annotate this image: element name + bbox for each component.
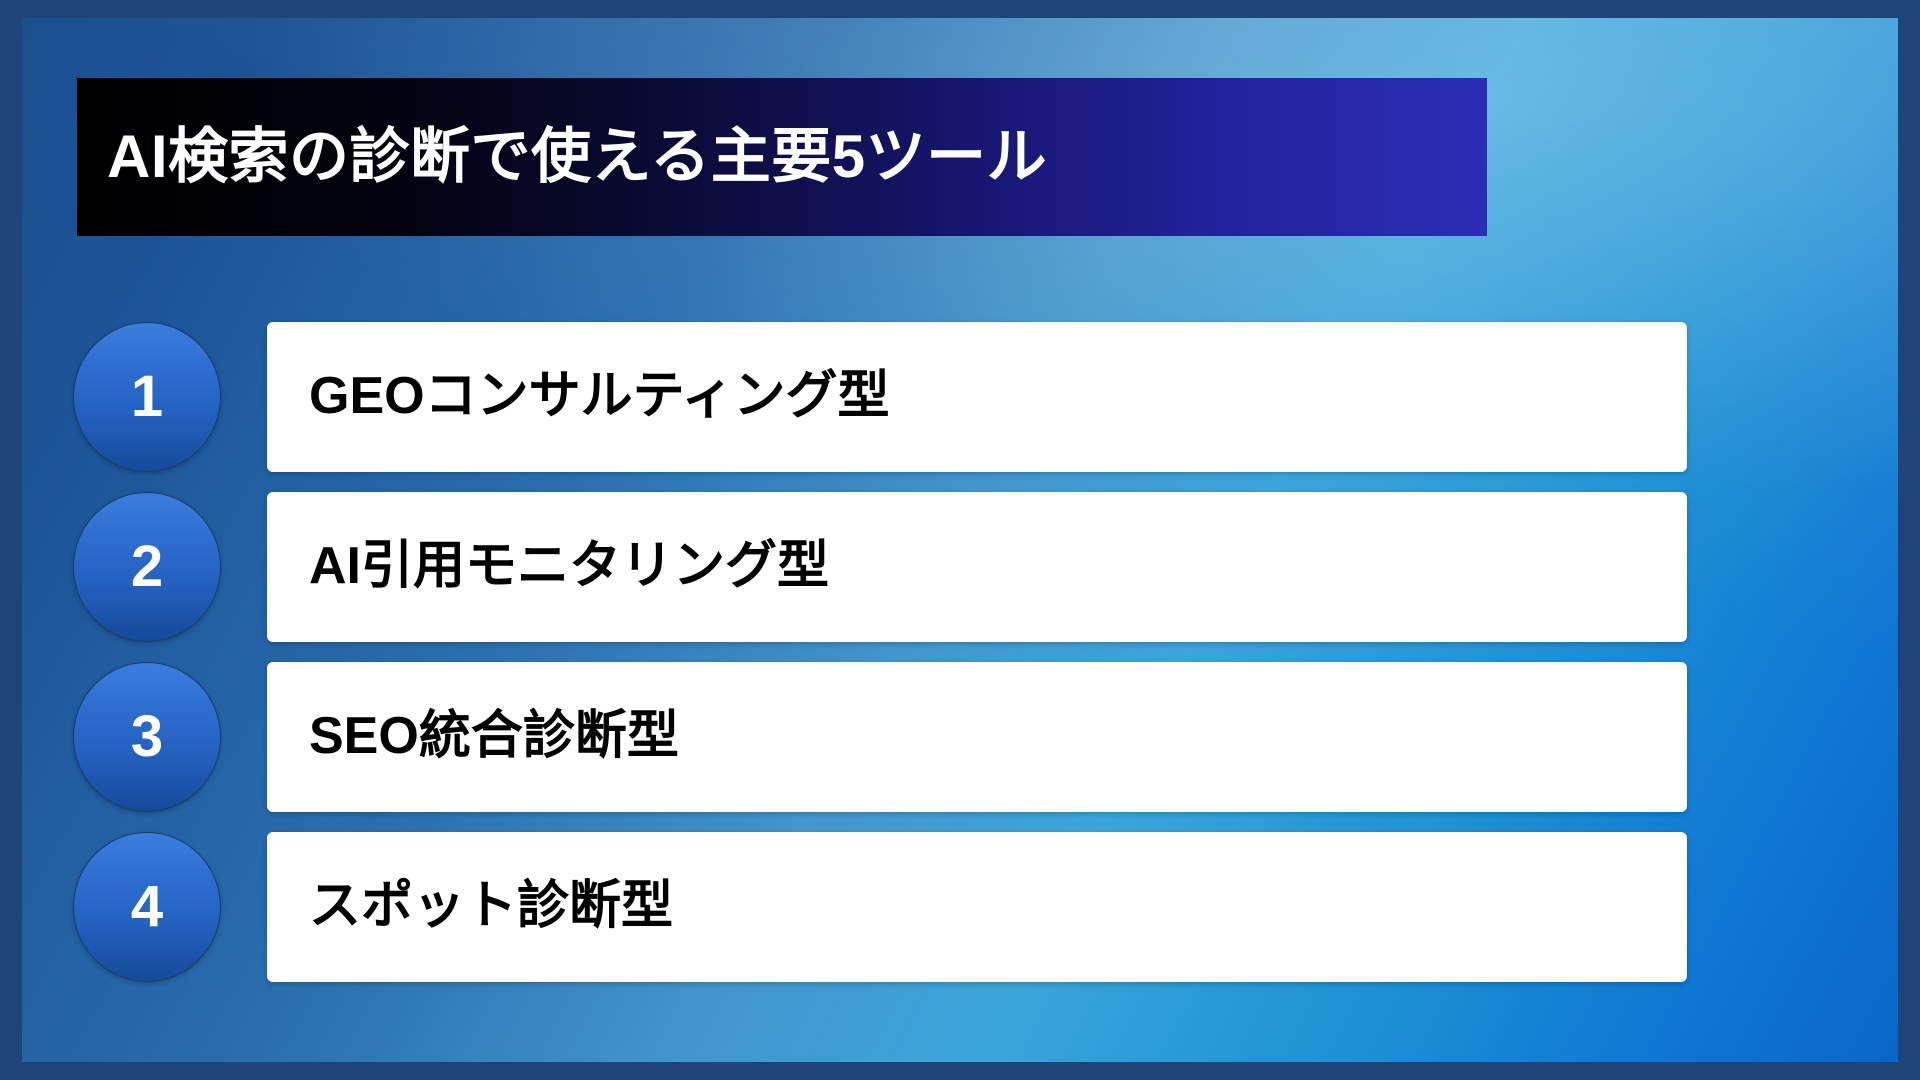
item-card-label: AI引用モニタリング型 — [309, 537, 829, 597]
item-card-label: GEOコンサルティング型 — [309, 367, 889, 427]
list-item[interactable]: 4 スポット診断型 — [22, 832, 1898, 982]
slide-title-bar: AI検索の診断で使える主要5ツール — [77, 78, 1487, 236]
item-number-label: 3 — [131, 708, 163, 766]
item-card[interactable]: SEO統合診断型 — [267, 662, 1687, 812]
page-title: AI検索の診断で使える主要5ツール — [107, 124, 1047, 190]
item-card[interactable]: GEOコンサルティング型 — [267, 322, 1687, 472]
item-number-label: 1 — [131, 368, 163, 426]
item-number-badge: 2 — [73, 492, 221, 642]
item-card[interactable]: スポット診断型 — [267, 832, 1687, 982]
item-number-badge: 4 — [73, 832, 221, 982]
list-item[interactable]: 1 GEOコンサルティング型 — [22, 322, 1898, 472]
list-item[interactable]: 3 SEO統合診断型 — [22, 662, 1898, 812]
list-item[interactable]: 2 AI引用モニタリング型 — [22, 492, 1898, 642]
item-card-label: SEO統合診断型 — [309, 707, 679, 767]
slide-root: AI検索の診断で使える主要5ツール 1 GEOコンサルティング型 2 AI引用モ… — [0, 0, 1920, 1080]
item-card[interactable]: AI引用モニタリング型 — [267, 492, 1687, 642]
item-number-badge: 3 — [73, 662, 221, 812]
item-number-label: 4 — [131, 878, 163, 936]
item-card-label: スポット診断型 — [309, 877, 673, 937]
item-number-badge: 1 — [73, 322, 221, 472]
slide-background-panel: AI検索の診断で使える主要5ツール 1 GEOコンサルティング型 2 AI引用モ… — [22, 18, 1898, 1062]
item-number-label: 2 — [131, 538, 163, 596]
